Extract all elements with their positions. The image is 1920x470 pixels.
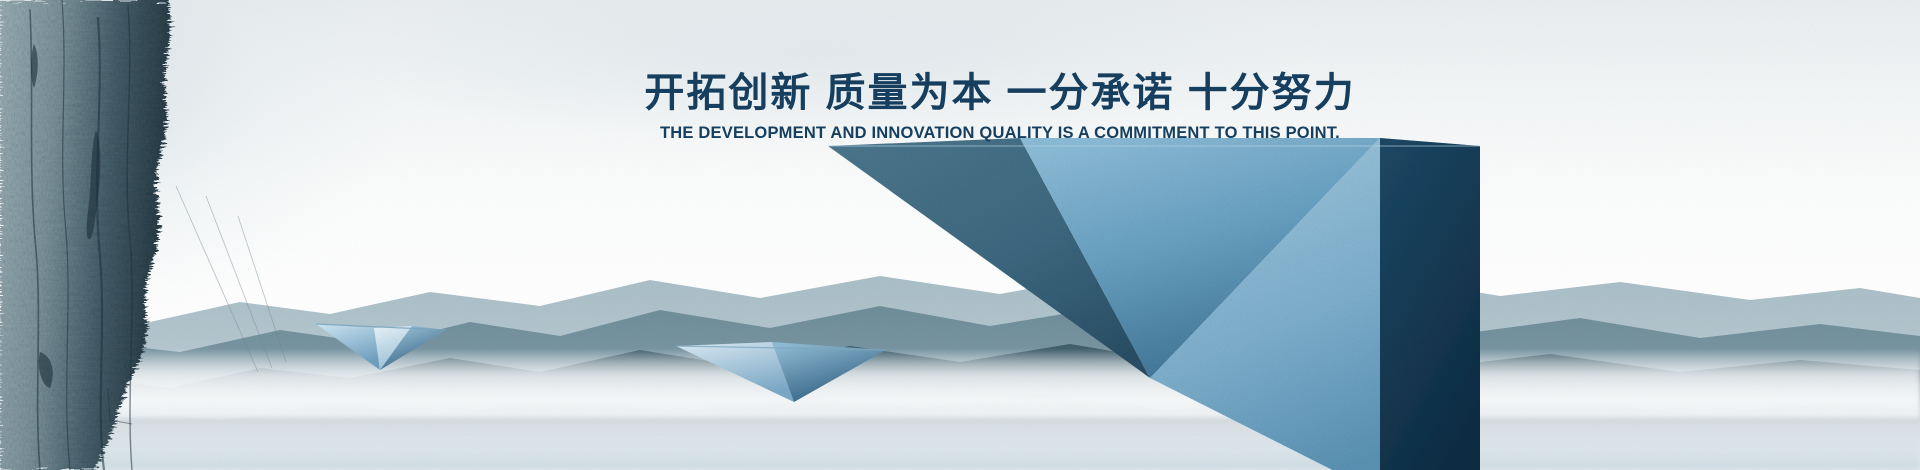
hero-banner: 开拓创新 质量为本 一分承诺 十分努力 THE DEVELOPMENT AND …	[0, 0, 1920, 470]
headline-block: 开拓创新 质量为本 一分承诺 十分努力 THE DEVELOPMENT AND …	[0, 72, 1920, 143]
small-inverted-pyramid-left	[316, 322, 446, 388]
page-subtitle: THE DEVELOPMENT AND INNOVATION QUALITY I…	[80, 124, 1920, 143]
large-inverted-pyramid	[820, 138, 1480, 470]
page-title: 开拓创新 质量为本 一分承诺 十分努力	[80, 72, 1920, 115]
rock-cliff	[0, 0, 200, 470]
